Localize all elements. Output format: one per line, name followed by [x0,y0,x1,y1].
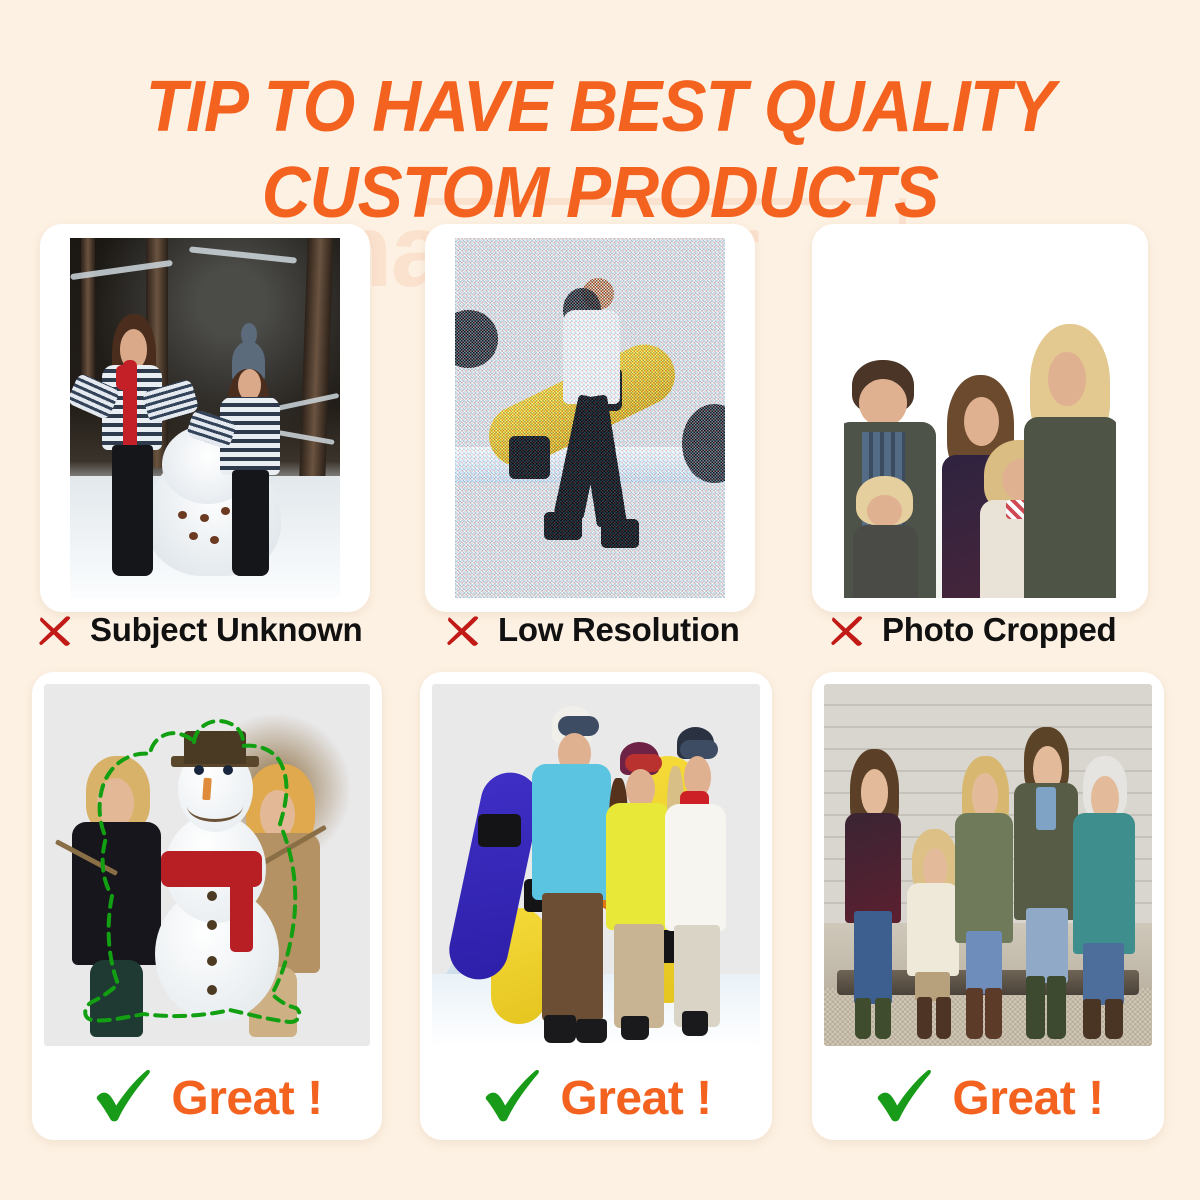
bad-label-low-resolution: Low Resolution [444,610,739,650]
good-label-text: Great ! [171,1071,322,1126]
bad-card-subject-unknown [40,224,370,612]
page-title: TIP TO HAVE BEST QUALITY CUSTOM PRODUCTS [36,64,1164,236]
photo-snowboarders [432,684,760,1046]
photo-cropped [844,238,1116,598]
bad-label-text: Photo Cropped [882,611,1116,649]
good-card-family-wall: Great ! [812,672,1164,1140]
bad-label-text: Low Resolution [498,611,739,649]
good-label-family-wall: Great ! [812,1070,1164,1126]
bad-card-photo-cropped [812,224,1148,612]
check-icon [480,1064,542,1126]
bad-card-low-resolution [425,224,755,612]
good-label-snowboarders: Great ! [420,1070,772,1126]
check-icon [872,1064,934,1126]
bad-label-photo-cropped: Photo Cropped [828,610,1116,650]
cross-icon [828,610,868,650]
title-line-2: CUSTOM PRODUCTS [36,150,1164,236]
good-label-snowman: Great ! [32,1070,382,1126]
cross-icon [36,610,76,650]
good-label-text: Great ! [952,1071,1103,1126]
bad-label-subject-unknown: Subject Unknown [36,610,362,650]
title-line-1: TIP TO HAVE BEST QUALITY [36,64,1164,150]
photo-subject-unknown [70,238,340,598]
bad-label-text: Subject Unknown [90,611,362,649]
photo-family-wall [824,684,1152,1046]
photo-low-resolution [455,238,725,598]
infographic-page: macorner TIP TO HAVE BEST QUALITY CUSTOM… [0,0,1200,1200]
good-label-text: Great ! [560,1071,711,1126]
selection-outline [44,684,370,1046]
cross-icon [444,610,484,650]
photo-snowman-selected [44,684,370,1046]
good-card-snowman: Great ! [32,672,382,1140]
good-card-snowboarders: Great ! [420,672,772,1140]
chroma-noise-overlay [455,238,725,598]
check-icon [91,1064,153,1126]
